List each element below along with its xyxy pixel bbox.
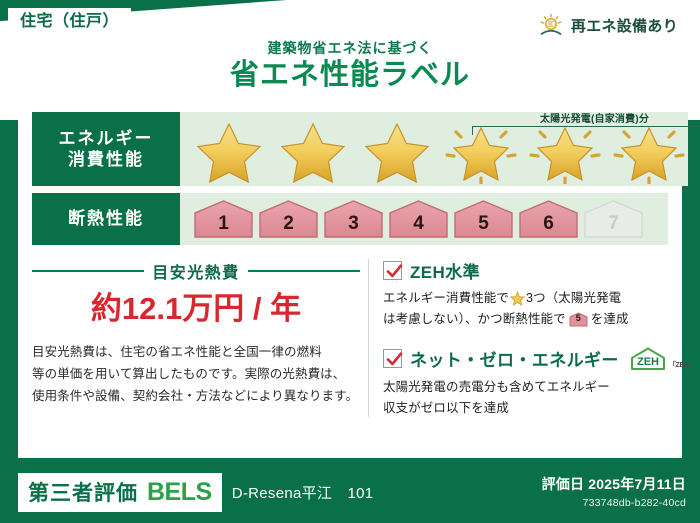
insulation-performance-label: 断熱性能 xyxy=(32,193,180,245)
renewable-energy-badge: 再エネ設備あり xyxy=(529,8,690,42)
criterion-title: ネット・ゼロ・エネルギー xyxy=(410,346,619,371)
page-title: 省エネ性能ラベル xyxy=(0,59,700,92)
insulation-chip-inline: 5 xyxy=(569,312,588,327)
insulation-chip: 1 xyxy=(192,198,255,240)
star-icon xyxy=(510,291,525,306)
energy-performance-row: エネルギー 消費性能 太陽光発電(自家消費)分 xyxy=(32,112,668,186)
energy-label-line1: エネルギー xyxy=(59,128,154,149)
lower-section: 目安光熱費 約12.1万円 / 年 目安光熱費は、住宅の省エネ性能と全国一律の燃… xyxy=(32,257,668,419)
star-solar-icon xyxy=(526,118,604,184)
disclaimer-line-3: 使用条件や設備、契約会社・方法などにより異なります。 xyxy=(32,386,360,408)
insulation-label-text: 断熱性能 xyxy=(68,208,144,229)
svg-text:ZEH: ZEH xyxy=(637,356,659,368)
insulation-chip: 3 xyxy=(322,198,385,240)
criterion-heading: ZEH水準 xyxy=(383,258,695,283)
criterion-text-1b: 3つ（太陽光発電 xyxy=(526,288,621,309)
evaluation-date: 評価日 2025年7月11日 xyxy=(542,474,686,494)
disclaimer-line-1: 目安光熱費は、住宅の省エネ性能と全国一律の燃料 xyxy=(32,342,360,364)
insulation-chip-number: 2 xyxy=(283,213,294,240)
building-type-tag: 住宅（住戸） xyxy=(8,8,131,37)
heading-rule-left xyxy=(32,270,144,272)
zeh-logo: ZEH 「ZEH」 xyxy=(629,346,696,372)
sun-icon xyxy=(538,13,564,37)
checkbox-checked-icon xyxy=(383,349,402,368)
insulation-chip-number: 3 xyxy=(348,213,359,240)
utility-cost-value: 約12.1万円 / 年 xyxy=(32,292,360,326)
insulation-chip-number: 5 xyxy=(478,213,489,240)
criterion-text-1a: エネルギー消費性能で xyxy=(383,288,509,309)
evaluation-id: 733748db-b282-40cd xyxy=(542,497,686,509)
energy-label-line2: 消費性能 xyxy=(68,149,144,170)
renewable-energy-badge-label: 再エネ設備あり xyxy=(571,15,678,36)
star-solar-icon xyxy=(610,118,688,184)
criteria-section: ZEH水準 エネルギー消費性能で 3つ（太陽光発電 は考慮しない）、かつ断熱性能… xyxy=(369,257,695,419)
criterion-heading: ネット・ゼロ・エネルギー ZEH 「ZEH」 xyxy=(383,346,695,372)
criterion-description-line-2: 収支がゼロ以下を達成 xyxy=(383,398,695,419)
insulation-rating-panel: 1 2 3 4 5 xyxy=(180,193,668,245)
bels-energy-label: 住宅（住戸） 再エネ設備あり 建築物省エネ法に基づく 省エネ性能ラベル xyxy=(0,0,700,523)
utility-cost-section: 目安光熱費 約12.1万円 / 年 目安光熱費は、住宅の省エネ性能と全国一律の燃… xyxy=(32,257,368,419)
insulation-chip-number: 1 xyxy=(218,213,229,240)
label-card: エネルギー 消費性能 太陽光発電(自家消費)分 xyxy=(18,103,682,458)
bels-prefix-text: 第三者評価 xyxy=(28,477,138,507)
insulation-chip: 2 xyxy=(257,198,320,240)
insulation-chip-inline-number: 5 xyxy=(569,312,588,327)
star-rating-group xyxy=(180,118,688,184)
utility-cost-heading-text: 目安光熱費 xyxy=(152,259,240,283)
label-footer: 第三者評価 BELS D-Resena平江 101 評価日 2025年7月11日… xyxy=(0,465,700,523)
zeh-house-icon: ZEH xyxy=(629,346,667,372)
insulation-chip: 6 xyxy=(517,198,580,240)
energy-rating-stars-panel: 太陽光発電(自家消費)分 xyxy=(180,112,688,186)
disclaimer-line-2: 等の単価を用いて算出したものです。実際の光熱費は、 xyxy=(32,364,360,386)
criterion-title: ZEH水準 xyxy=(410,258,480,283)
energy-performance-label: エネルギー 消費性能 xyxy=(32,112,180,186)
insulation-chip-number: 4 xyxy=(413,213,424,240)
star-icon xyxy=(274,118,352,184)
heading-rule-right xyxy=(248,270,360,272)
insulation-chip: 5 xyxy=(452,198,515,240)
insulation-chip-number: 6 xyxy=(543,213,554,240)
criterion-text-2a: は考慮しない）、かつ断熱性能で xyxy=(383,309,566,330)
criterion-description-line-2: は考慮しない）、かつ断熱性能で 5 を達成 xyxy=(383,309,695,330)
title-block: 建築物省エネ法に基づく 省エネ性能ラベル xyxy=(0,40,700,92)
zeh-logo-caption: 「ZEH」 xyxy=(669,360,696,372)
bels-logo-text: BELS xyxy=(147,478,212,507)
criterion-description: エネルギー消費性能で 3つ（太陽光発電 は考慮しない）、かつ断熱性能で 5 xyxy=(383,288,695,331)
criterion-text-2c: を達成 xyxy=(591,309,629,330)
star-solar-icon xyxy=(442,118,520,184)
criterion-description-line-1: エネルギー消費性能で 3つ（太陽光発電 xyxy=(383,288,695,309)
bels-certification-mark: 第三者評価 BELS xyxy=(18,473,222,512)
criterion-net-zero-energy: ネット・ゼロ・エネルギー ZEH 「ZEH」 太陽光発電の売電分も含めてエネルギ… xyxy=(383,346,695,420)
building-name: D-Resena平江 101 xyxy=(232,482,374,503)
checkbox-checked-icon xyxy=(383,261,402,280)
insulation-performance-row: 断熱性能 1 2 3 xyxy=(32,193,668,245)
insulation-chip-inactive: 7 xyxy=(582,198,645,240)
criterion-zeh-standard: ZEH水準 エネルギー消費性能で 3つ（太陽光発電 は考慮しない）、かつ断熱性能… xyxy=(383,258,695,331)
criterion-description-line-1: 太陽光発電の売電分も含めてエネルギー xyxy=(383,377,695,398)
star-icon xyxy=(358,118,436,184)
insulation-chip-number: 7 xyxy=(608,213,619,240)
utility-cost-disclaimer: 目安光熱費は、住宅の省エネ性能と全国一律の燃料 等の単価を用いて算出したものです… xyxy=(32,342,360,408)
star-icon xyxy=(190,118,268,184)
title-subtitle: 建築物省エネ法に基づく xyxy=(0,40,700,57)
utility-cost-heading: 目安光熱費 xyxy=(32,259,360,283)
insulation-chip: 4 xyxy=(387,198,450,240)
criterion-description: 太陽光発電の売電分も含めてエネルギー 収支がゼロ以下を達成 xyxy=(383,377,695,420)
footer-left-group: 第三者評価 BELS D-Resena平江 101 xyxy=(18,473,373,512)
footer-right-group: 評価日 2025年7月11日 733748db-b282-40cd xyxy=(542,474,686,509)
insulation-chip-group: 1 2 3 4 5 xyxy=(180,198,645,240)
